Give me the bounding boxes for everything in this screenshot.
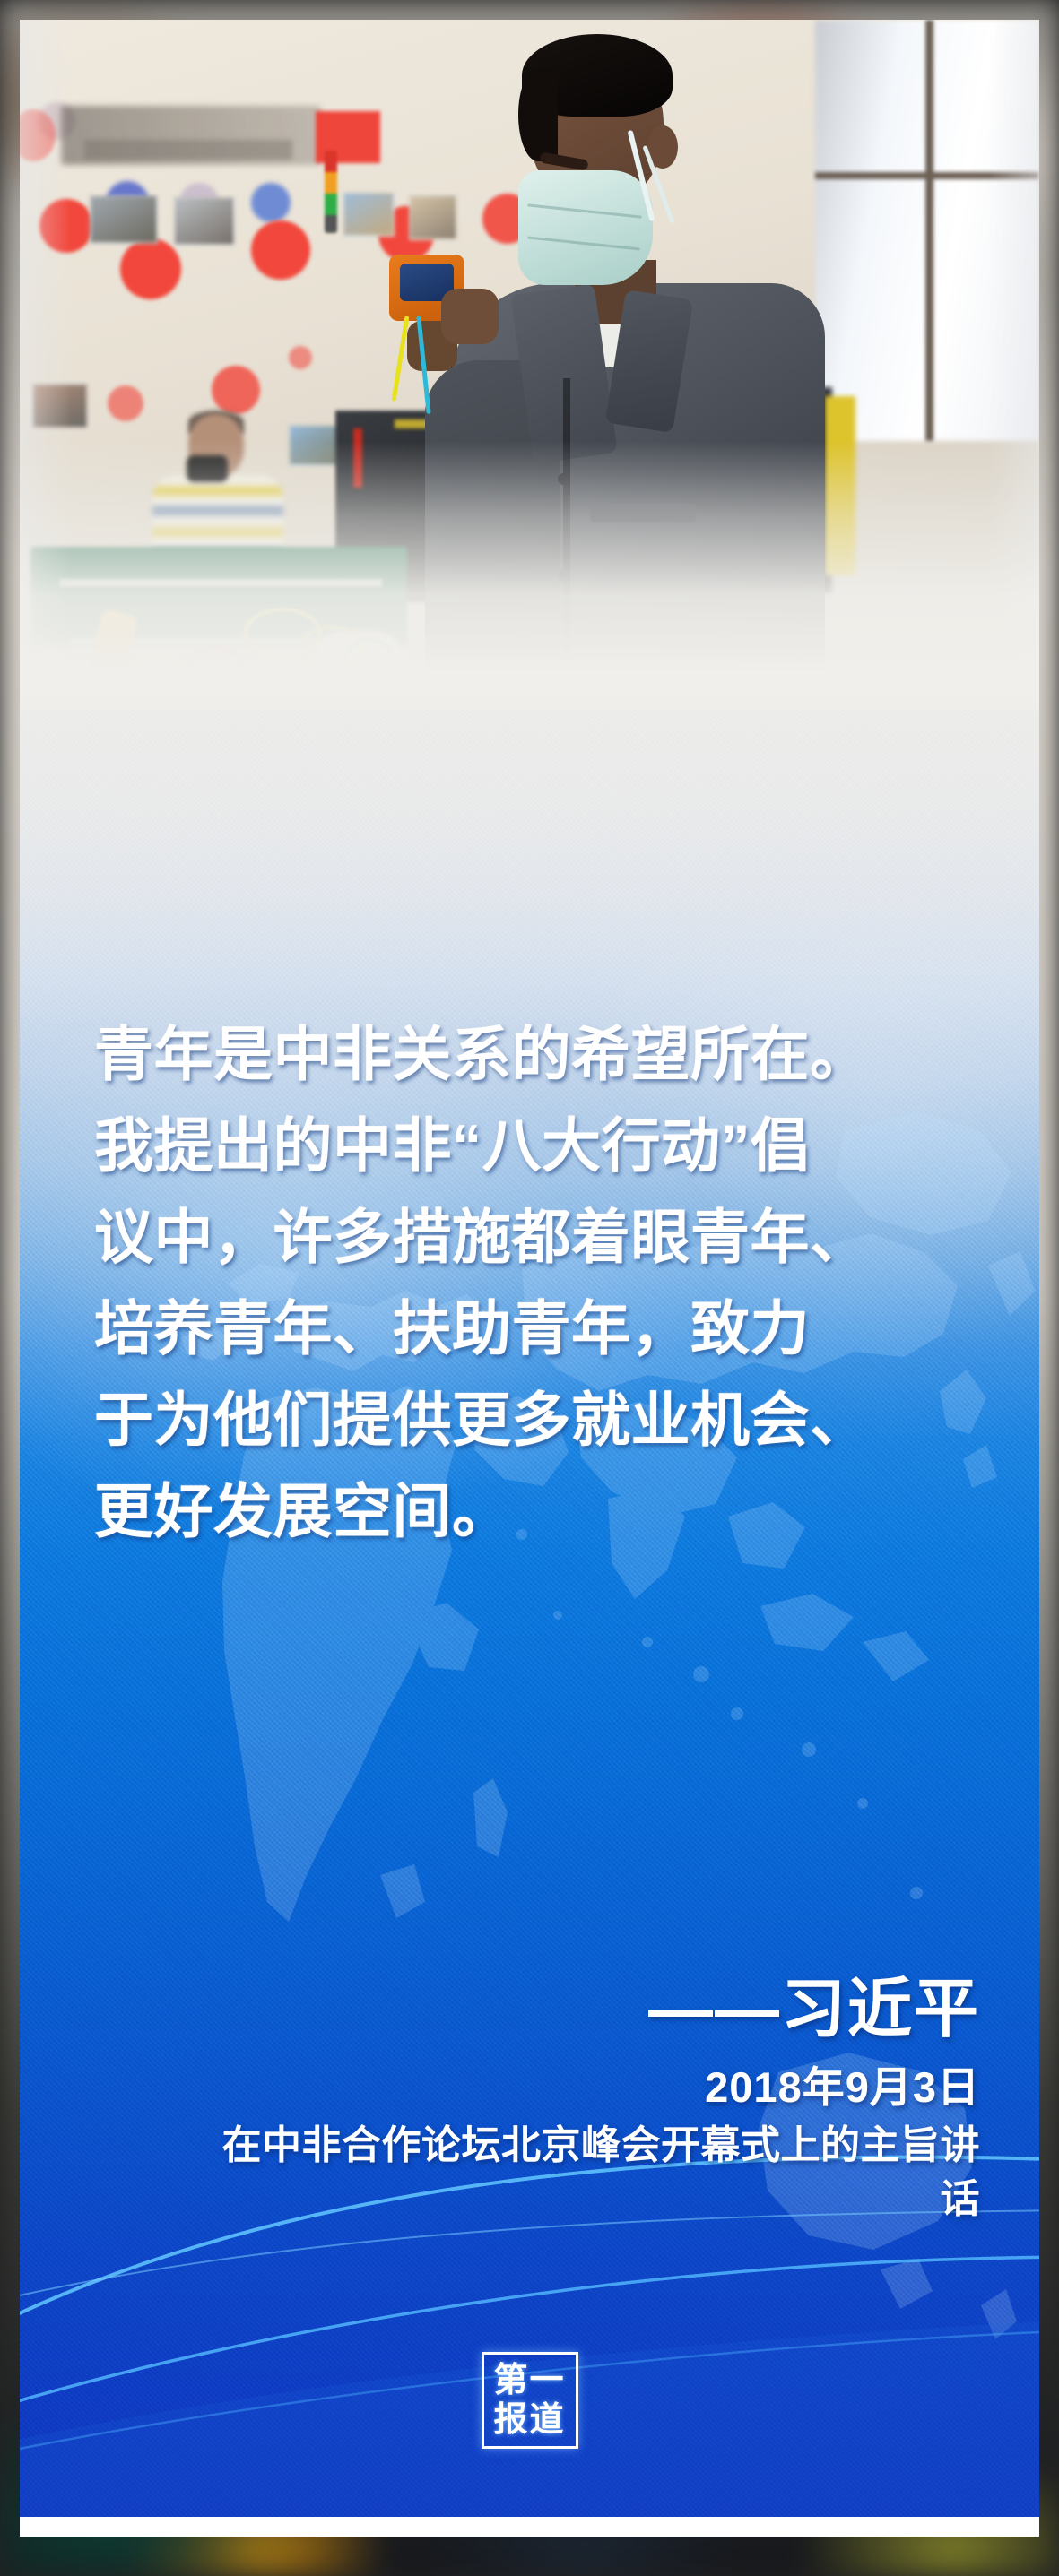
header-photograph: [20, 20, 1039, 737]
quote-line-5: 于为他们提供更多就业机会、: [94, 1385, 991, 1455]
quote-line-6: 更好发展空间。: [94, 1476, 991, 1546]
quote-line-4: 培养青年、扶助青年，致力: [94, 1293, 991, 1363]
speech-date: 2018年9月3日: [209, 2058, 980, 2117]
attribution-block: ——习近平 2018年9月3日 在中非合作论坛北京峰会开幕式上的主旨讲话: [209, 1967, 980, 2226]
bottom-white-strip: [20, 2517, 1039, 2537]
logo-line-1: 第一: [493, 2361, 565, 2400]
quote-line-3: 议中，许多措施都着眼青年、: [94, 1202, 991, 1272]
photo-bottom-fade: [20, 441, 1039, 737]
poster-card: 青年是中非关系的希望所在。 我提出的中非“八大行动”倡 议中，许多措施都着眼青年…: [20, 20, 1039, 2537]
diyibaodao-logo-badge[interactable]: 第一 报道: [482, 2352, 578, 2449]
logo-line-2: 报道: [493, 2400, 565, 2440]
speech-occasion: 在中非合作论坛北京峰会开幕式上的主旨讲话: [209, 2119, 980, 2226]
speaker-name: ——习近平: [209, 1967, 980, 2053]
quote-text: 青年是中非关系的希望所在。 我提出的中非“八大行动”倡 议中，许多措施都着眼青年…: [94, 1019, 991, 1568]
poster-root: 青年是中非关系的希望所在。 我提出的中非“八大行动”倡 议中，许多措施都着眼青年…: [0, 0, 1059, 2576]
gradient-body: 青年是中非关系的希望所在。 我提出的中非“八大行动”倡 议中，许多措施都着眼青年…: [20, 710, 1039, 2537]
quote-line-2: 我提出的中非“八大行动”倡: [94, 1111, 991, 1180]
quote-line-1: 青年是中非关系的希望所在。: [94, 1019, 991, 1089]
